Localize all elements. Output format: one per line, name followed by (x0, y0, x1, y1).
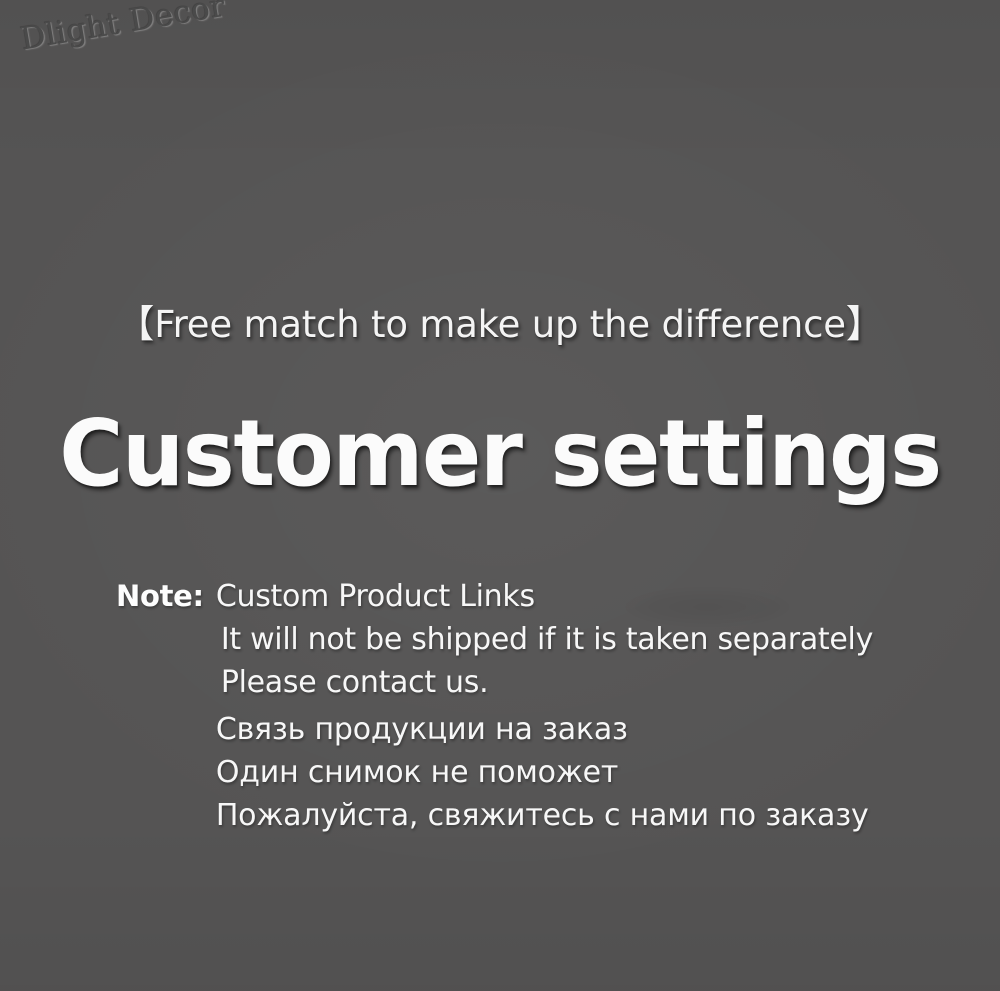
product-info-image: Dlight Decor 【Free match to make up the … (0, 0, 1000, 991)
note-line-en-3: Please contact us. (216, 661, 976, 704)
note-lines: Custom Product Links It will not be ship… (216, 575, 976, 837)
note-line-ru-3: Пожалуйста, свяжитесь с нами по заказу (216, 794, 976, 837)
page-title: Customer settings (25, 408, 975, 500)
note-line-en-1: Custom Product Links (216, 575, 976, 618)
bracket-close-icon: 】 (846, 302, 884, 346)
headline-banner: 【Free match to make up the difference】 (0, 293, 1000, 348)
note-line-ru-2: Один снимок не поможет (216, 751, 976, 794)
note-line-en-2: It will not be shipped if it is taken se… (216, 618, 976, 661)
bracket-open-icon: 【 (116, 302, 154, 346)
note-row: Note: Custom Product Links It will not b… (116, 575, 976, 837)
brand-watermark: Dlight Decor (18, 0, 228, 58)
headline-text: Free match to make up the difference (154, 303, 846, 346)
note-line-ru-1: Связь продукции на заказ (216, 708, 976, 751)
note-block: Note: Custom Product Links It will not b… (116, 575, 976, 837)
note-label: Note: (116, 579, 204, 613)
